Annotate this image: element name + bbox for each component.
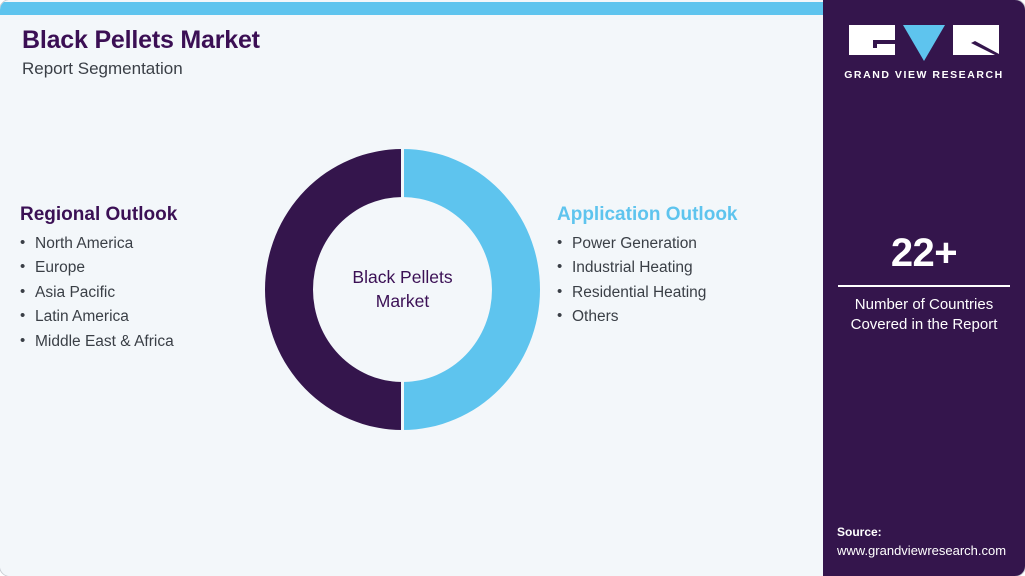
application-outlook-heading: Application Outlook xyxy=(557,203,807,228)
list-item: Middle East & Africa xyxy=(20,330,250,354)
list-item: Europe xyxy=(20,256,250,280)
stat-label-line-2: Covered in the Report xyxy=(835,315,1013,335)
regional-outlook-block: Regional Outlook North America Europe As… xyxy=(20,203,250,354)
main-content-panel: Black Pellets Market Report Segmentation… xyxy=(0,0,823,576)
list-item: Latin America xyxy=(20,305,250,329)
list-item: Industrial Heating xyxy=(557,256,807,280)
stat-block: 22+ Number of Countries Covered in the R… xyxy=(823,232,1025,335)
application-outlook-list: Power Generation Industrial Heating Resi… xyxy=(557,232,807,330)
title-block: Black Pellets Market Report Segmentation xyxy=(22,26,722,79)
stat-divider xyxy=(838,285,1010,287)
donut-slice-application xyxy=(403,149,541,430)
source-url[interactable]: www.grandviewresearch.com xyxy=(837,542,1025,560)
brand-sidebar: GRAND VIEW RESEARCH 22+ Number of Countr… xyxy=(823,0,1025,576)
top-accent-bar xyxy=(0,2,823,15)
stat-label-line-1: Number of Countries xyxy=(835,295,1013,315)
regional-outlook-list: North America Europe Asia Pacific Latin … xyxy=(20,232,250,354)
list-item: Residential Heating xyxy=(557,281,807,305)
brand-logo: GRAND VIEW RESEARCH xyxy=(823,23,1025,81)
brand-wordmark: GRAND VIEW RESEARCH xyxy=(823,70,1025,81)
source-block: Source: www.grandviewresearch.com xyxy=(837,524,1025,560)
list-item: North America xyxy=(20,232,250,256)
infographic-canvas: Black Pellets Market Report Segmentation… xyxy=(0,0,1025,576)
stat-label: Number of Countries Covered in the Repor… xyxy=(835,295,1013,335)
donut-chart-svg xyxy=(262,146,543,433)
regional-outlook-heading: Regional Outlook xyxy=(20,203,250,228)
stat-value: 22+ xyxy=(835,232,1013,274)
source-title: Source: xyxy=(837,524,1025,541)
list-item: Asia Pacific xyxy=(20,281,250,305)
donut-slice-regional xyxy=(265,149,403,430)
application-outlook-block: Application Outlook Power Generation Ind… xyxy=(557,203,807,330)
list-item: Others xyxy=(557,305,807,329)
donut-chart: Black Pellets Market xyxy=(262,146,543,433)
donut-gap-top xyxy=(401,147,404,199)
list-item: Power Generation xyxy=(557,232,807,256)
donut-gap-bottom xyxy=(401,380,404,432)
page-subtitle: Report Segmentation xyxy=(22,59,722,79)
gvr-logo-icon xyxy=(849,23,999,63)
page-title: Black Pellets Market xyxy=(22,26,722,55)
